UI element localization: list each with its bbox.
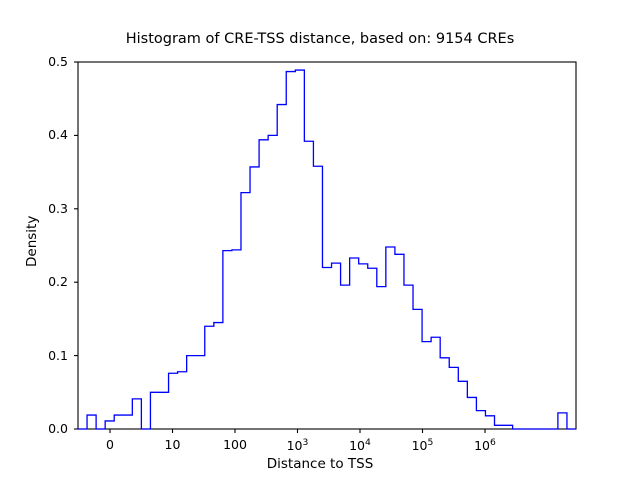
y-tick-label: 0.3: [28, 201, 68, 216]
x-tick-label: 0: [80, 437, 140, 452]
x-axis-label: Distance to TSS: [0, 456, 640, 472]
tick-marks: [74, 62, 485, 433]
axes-frame: [78, 62, 576, 429]
x-tick-label: 100: [205, 437, 265, 452]
y-tick-label: 0.0: [28, 421, 68, 436]
x-tick-label: 103: [268, 437, 328, 453]
x-tick-label: 106: [455, 437, 515, 453]
x-tick-label: 104: [330, 437, 390, 453]
histogram-step-line: [78, 70, 576, 429]
figure-canvas: Histogram of CRE-TSS distance, based on:…: [0, 0, 640, 480]
x-tick-label: 105: [393, 437, 453, 453]
y-tick-label: 0.1: [28, 348, 68, 363]
plot-area: [0, 0, 640, 480]
y-tick-label: 0.2: [28, 274, 68, 289]
x-tick-label: 10: [143, 437, 203, 452]
y-tick-label: 0.5: [28, 54, 68, 69]
y-axis-label: Density: [24, 216, 40, 267]
y-tick-label: 0.4: [28, 127, 68, 142]
